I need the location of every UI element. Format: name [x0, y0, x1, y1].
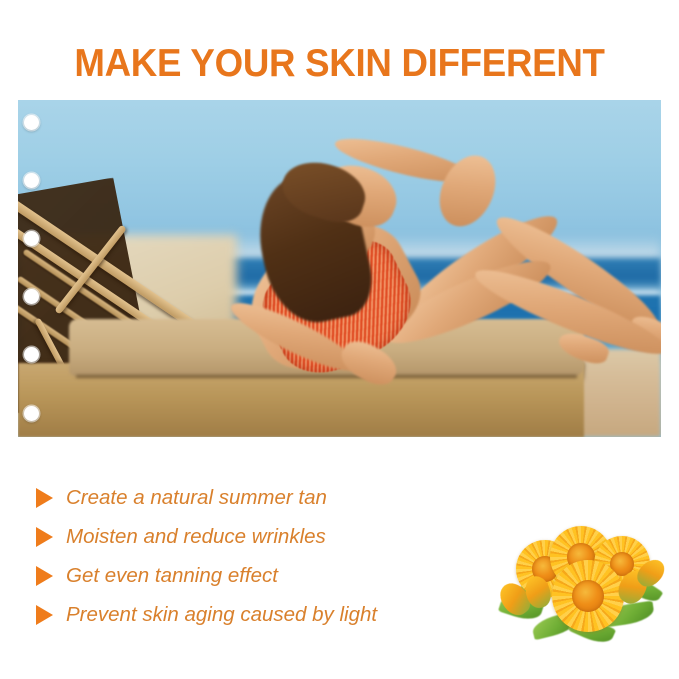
triangle-bullet-icon — [36, 488, 53, 508]
triangle-bullet-icon — [36, 527, 53, 547]
calendula-flowers — [496, 520, 668, 652]
benefit-label: Moisten and reduce wrinkles — [66, 525, 326, 549]
triangle-bullet-icon — [36, 605, 53, 625]
beach-sunbathing-photo — [18, 100, 661, 437]
benefits-list: Create a natural summer tan Moisten and … — [36, 478, 496, 634]
list-item: Get even tanning effect — [36, 556, 496, 595]
punch-hole — [24, 347, 39, 362]
sunbathing-woman — [18, 100, 661, 437]
triangle-bullet-icon — [36, 566, 53, 586]
photo-scene — [18, 100, 661, 437]
list-item: Prevent skin aging caused by light — [36, 595, 496, 634]
flower-center — [572, 580, 604, 612]
benefit-label: Create a natural summer tan — [66, 486, 327, 510]
benefit-label: Prevent skin aging caused by light — [66, 603, 377, 627]
punch-hole — [24, 173, 39, 188]
punch-hole — [24, 115, 39, 130]
flower-bloom — [552, 560, 624, 632]
punch-hole — [24, 406, 39, 421]
list-item: Moisten and reduce wrinkles — [36, 517, 496, 556]
punch-hole — [24, 231, 39, 246]
punch-hole — [24, 289, 39, 304]
page-title: MAKE YOUR SKIN DIFFERENT — [20, 42, 658, 86]
benefit-label: Get even tanning effect — [66, 564, 278, 588]
list-item: Create a natural summer tan — [36, 478, 496, 517]
